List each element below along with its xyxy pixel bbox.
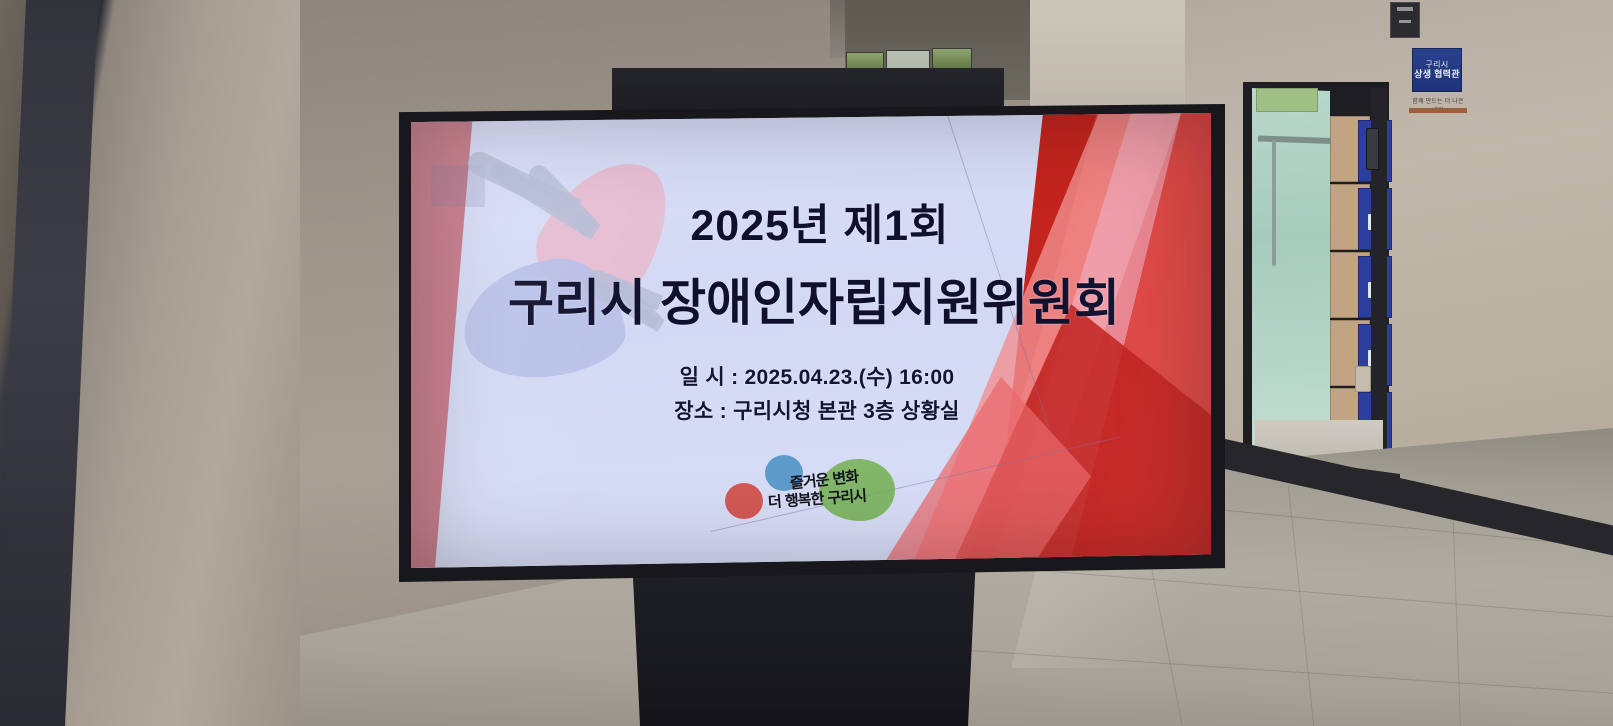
- logo-slogan-text: 즐거운 변화 더 행복한 구리시: [721, 453, 901, 527]
- guri-city-logo: 즐거운 변화 더 행복한 구리시: [721, 453, 901, 527]
- slide-title-line-2: 구리시 장애인자립지원위원회: [417, 263, 1211, 335]
- door-placard: [1256, 88, 1318, 112]
- corridor-wall-right: [1030, 0, 1190, 120]
- door-handle[interactable]: [1272, 140, 1276, 266]
- slide-datetime: 일 시 : 2025.04.23.(수) 16:00: [423, 361, 1211, 395]
- logo-slogan-line-2: 더 행복한 구리시: [768, 489, 867, 511]
- plaque-line-1: [1397, 7, 1413, 11]
- wall-outlet-icon: [1355, 366, 1371, 392]
- slide-text-block: 2025년 제1회 구리시 장애인자립지원위원회 일 시 : 2025.04.2…: [411, 191, 1211, 429]
- card-reader-icon[interactable]: [1366, 128, 1379, 170]
- glass-door-panel[interactable]: [1252, 88, 1330, 463]
- wall-plaque-sign: [1390, 2, 1420, 38]
- photo-scene: 구리시 상생 협력관 함께 만드는 더 나은 내일: [0, 0, 1613, 726]
- slide-canvas: 2025년 제1회 구리시 장애인자립지원위원회 일 시 : 2025.04.2…: [411, 113, 1211, 568]
- plaque-line-2: [1399, 20, 1411, 23]
- wall-sign-line-2: 상생 협력관: [1414, 69, 1460, 79]
- wall-sign-blue: 구리시 상생 협력관: [1412, 48, 1462, 92]
- slide-title-line-1: 2025년 제1회: [429, 191, 1211, 253]
- wall-sign-subtitle: 함께 만드는 더 나은 내일: [1409, 96, 1467, 107]
- kiosk-pedestal-base: [624, 556, 984, 726]
- slide-meta: 일 시 : 2025.04.23.(수) 16:00 장소 : 구리시청 본관 …: [423, 361, 1211, 429]
- slide-venue: 장소 : 구리시청 본관 3층 상황실: [423, 395, 1211, 429]
- kiosk-display-screen[interactable]: 2025년 제1회 구리시 장애인자립지원위원회 일 시 : 2025.04.2…: [411, 113, 1211, 568]
- wall-sign-underbar: [1409, 108, 1467, 113]
